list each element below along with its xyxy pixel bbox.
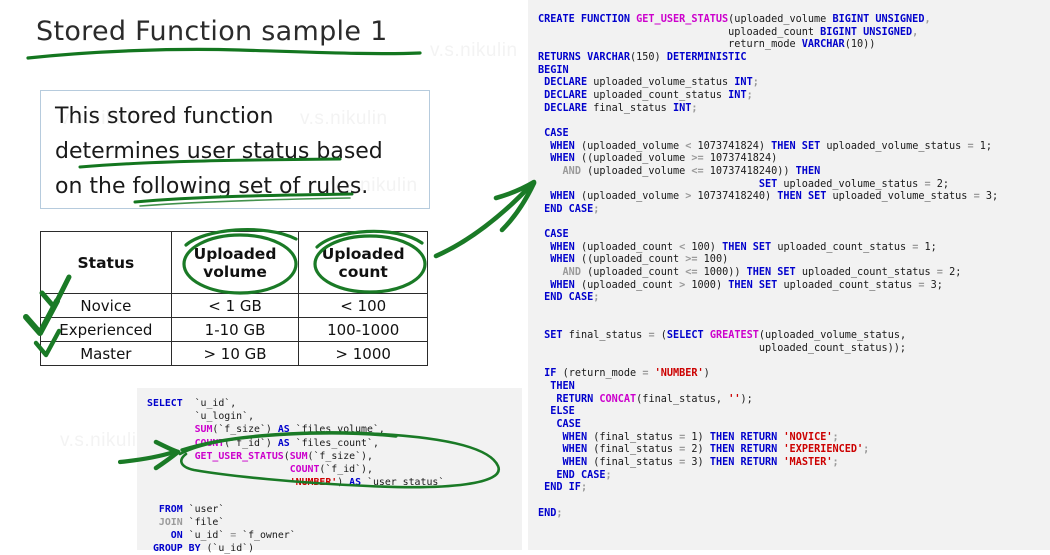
callout-line-3: on the following set of rules. <box>55 169 419 204</box>
title-underline-annotation <box>24 44 424 62</box>
callout-line-1: This stored function <box>55 99 419 134</box>
page-title: Stored Function sample 1 <box>36 16 388 47</box>
cell-uploaded-volume: > 10 GB <box>171 342 299 366</box>
rules-table: Status Uploaded volume Uploaded count No… <box>40 231 428 366</box>
cell-status: Experienced <box>41 318 172 342</box>
cell-uploaded-count: < 100 <box>299 294 428 318</box>
cell-uploaded-count: 100-1000 <box>299 318 428 342</box>
cell-uploaded-count: > 1000 <box>299 342 428 366</box>
callout-line-2: determines user status based <box>55 134 419 169</box>
cell-status: Novice <box>41 294 172 318</box>
column-header-uploaded-count: Uploaded count <box>299 232 428 294</box>
header-line-2: count <box>339 263 388 281</box>
rules-table-container: Status Uploaded volume Uploaded count No… <box>40 231 428 366</box>
table-row: Novice < 1 GB < 100 <box>41 294 428 318</box>
header-line-1: Uploaded <box>322 245 405 263</box>
column-header-uploaded-volume: Uploaded volume <box>171 232 299 294</box>
function-code-block[interactable]: CREATE FUNCTION GET_USER_STATUS(uploaded… <box>528 0 1050 550</box>
column-header-status: Status <box>41 232 172 294</box>
query-code-block[interactable]: SELECT `u_id`, `u_login`, SUM(`f_size`) … <box>137 388 522 550</box>
description-callout: This stored function determines user sta… <box>40 90 430 209</box>
cell-uploaded-volume: < 1 GB <box>171 294 299 318</box>
cell-status: Master <box>41 342 172 366</box>
table-header-row: Status Uploaded volume Uploaded count <box>41 232 428 294</box>
table-row: Master > 10 GB > 1000 <box>41 342 428 366</box>
header-line-1: Uploaded <box>194 245 277 263</box>
cell-uploaded-volume: 1-10 GB <box>171 318 299 342</box>
table-row: Experienced 1-10 GB 100-1000 <box>41 318 428 342</box>
header-line-2: volume <box>203 263 267 281</box>
